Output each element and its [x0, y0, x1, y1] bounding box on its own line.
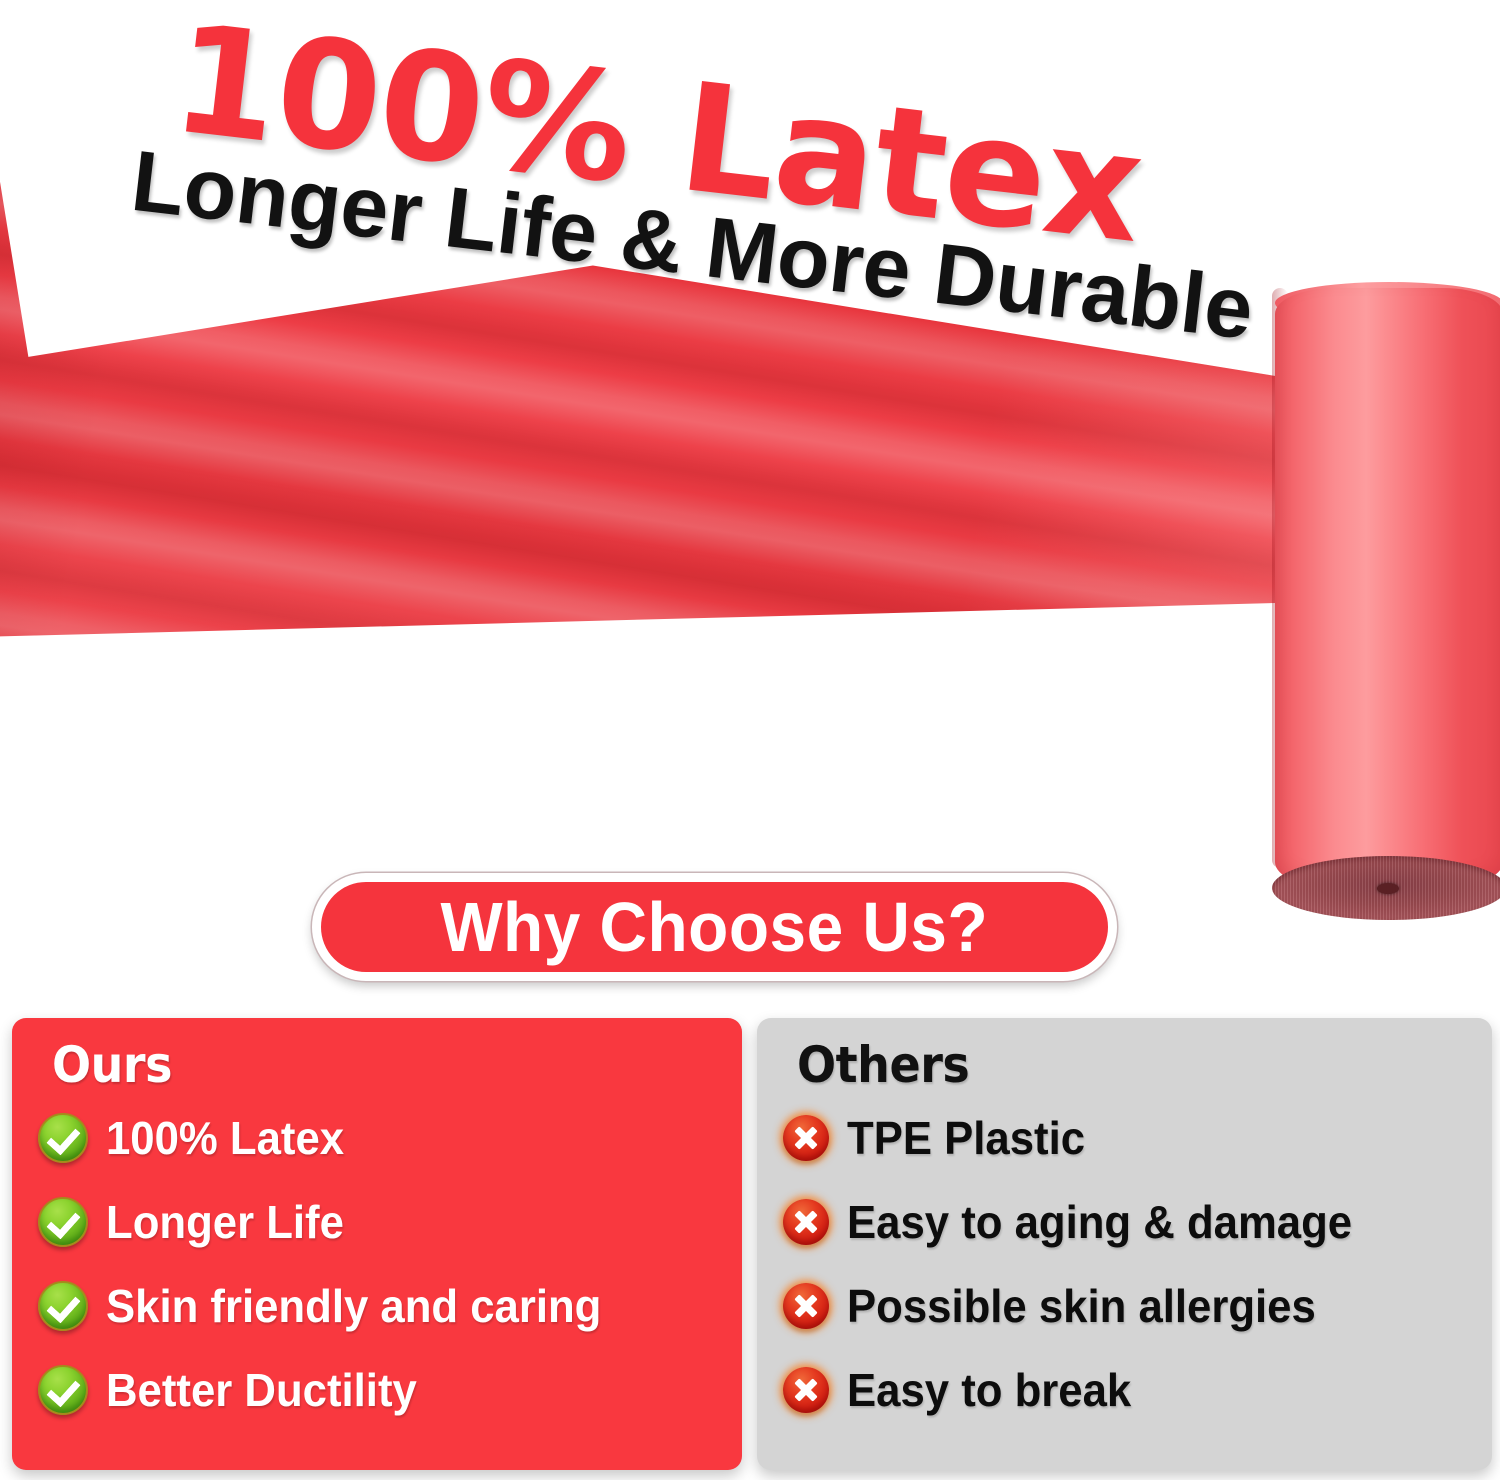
check-circle-icon — [38, 1113, 88, 1163]
others-feature-label: TPE Plastic — [847, 1115, 1085, 1161]
list-item: Easy to aging & damage — [783, 1180, 1466, 1264]
ours-feature-label: Skin friendly and caring — [106, 1283, 601, 1329]
check-circle-icon — [38, 1281, 88, 1331]
list-item: Possible skin allergies — [783, 1264, 1466, 1348]
ours-feature-list: 100% Latex Longer Life Skin friendly and… — [38, 1096, 716, 1432]
cross-circle-icon — [783, 1199, 829, 1245]
ours-feature-label: Better Ductility — [106, 1367, 417, 1413]
latex-roll-body — [1275, 288, 1500, 888]
check-circle-icon — [38, 1197, 88, 1247]
product-marketing-image: 100% Latex Longer Life & More Durable Wh… — [0, 0, 1500, 1480]
list-item: Easy to break — [783, 1348, 1466, 1432]
others-panel: Others TPE Plastic Easy to aging & damag… — [757, 1018, 1492, 1470]
others-feature-label: Easy to break — [847, 1367, 1131, 1413]
ours-panel-title: Ours — [52, 1040, 663, 1090]
latex-roll-core-hole — [1377, 883, 1399, 894]
list-item: 100% Latex — [38, 1096, 716, 1180]
list-item: Skin friendly and caring — [38, 1264, 716, 1348]
others-feature-label: Possible skin allergies — [847, 1283, 1316, 1329]
list-item: Better Ductility — [38, 1348, 716, 1432]
others-feature-label: Easy to aging & damage — [847, 1199, 1352, 1245]
why-choose-us-badge: Why Choose Us? — [312, 873, 1117, 981]
check-circle-icon — [38, 1365, 88, 1415]
list-item: TPE Plastic — [783, 1096, 1466, 1180]
cross-circle-icon — [783, 1115, 829, 1161]
others-panel-title: Others — [797, 1040, 1412, 1090]
ours-panel: Ours 100% Latex Longer Life Skin friendl… — [12, 1018, 742, 1470]
why-choose-us-label: Why Choose Us? — [441, 887, 989, 967]
cross-circle-icon — [783, 1367, 829, 1413]
comparison-section: Ours 100% Latex Longer Life Skin friendl… — [0, 1018, 1500, 1480]
ours-feature-label: Longer Life — [106, 1199, 344, 1245]
list-item: Longer Life — [38, 1180, 716, 1264]
others-feature-list: TPE Plastic Easy to aging & damage Possi… — [783, 1096, 1466, 1432]
cross-circle-icon — [783, 1283, 829, 1329]
hero-product-photo: 100% Latex Longer Life & More Durable — [0, 0, 1500, 1010]
ours-feature-label: 100% Latex — [106, 1115, 344, 1161]
